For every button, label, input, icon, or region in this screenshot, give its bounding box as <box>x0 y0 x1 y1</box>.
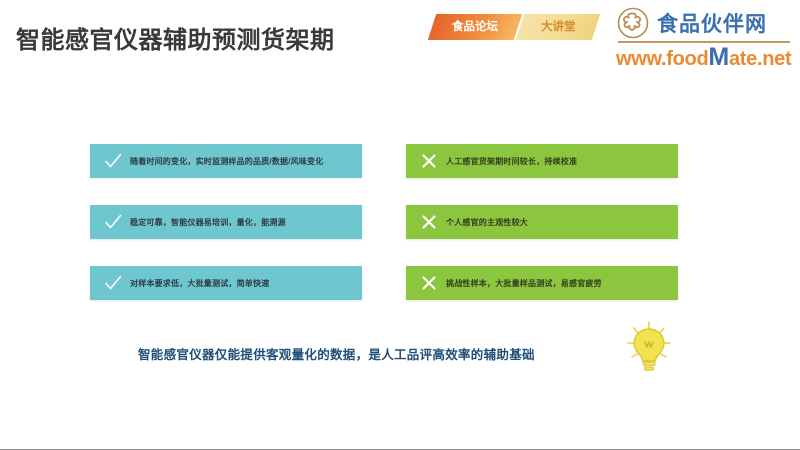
badge-food-forum-label: 食品论坛 <box>452 14 498 40</box>
flower-circle-icon <box>616 6 650 40</box>
cross-icon <box>416 274 442 292</box>
advantage-card-1-text: 随着时间的变化，实时监测样品的品质/数据/风味变化 <box>130 156 323 167</box>
advantage-card-2: 稳定可靠，智能仪器易培训，量化，能溯源 <box>90 205 362 239</box>
check-icon <box>100 273 126 293</box>
cross-icon <box>416 213 442 231</box>
lightbulb-icon <box>618 318 680 376</box>
cross-icon <box>416 152 442 170</box>
logo-url-suffix: ate.net <box>729 48 791 70</box>
check-icon <box>100 151 126 171</box>
badge-lecture-hall-label: 大讲堂 <box>541 14 576 40</box>
logo-top-row: 食品伙伴网 <box>616 6 767 40</box>
logo-chinese-name: 食品伙伴网 <box>657 8 767 38</box>
check-icon <box>100 212 126 232</box>
advantage-card-1: 随着时间的变化，实时监测样品的品质/数据/风味变化 <box>90 144 362 178</box>
logo-url-prefix: www.food <box>616 48 708 70</box>
presentation-slide: 智能感官仪器辅助预测货架期 食品论坛 大讲堂 食品伙伴网 <box>0 0 800 450</box>
comparison-grid: 随着时间的变化，实时监测样品的品质/数据/风味变化 稳定可靠，智能仪器易培训，量… <box>90 144 710 304</box>
slide-header: 智能感官仪器辅助预测货架期 食品论坛 大讲堂 食品伙伴网 <box>0 0 800 78</box>
page-title: 智能感官仪器辅助预测货架期 <box>16 20 335 55</box>
advantage-card-2-text: 稳定可靠，智能仪器易培训，量化，能溯源 <box>130 217 286 228</box>
site-logo[interactable]: 食品伙伴网 www.foodMate.net <box>616 6 794 68</box>
logo-url-m: M <box>708 43 729 71</box>
limitation-card-3: 挑战性样本，大批量样品测试，易感官疲劳 <box>406 266 678 300</box>
logo-url: www.foodMate.net <box>616 43 791 72</box>
advantage-card-3: 对样本要求低，大批量测试，简单快速 <box>90 266 362 300</box>
badge-lecture-hall: 大讲堂 <box>516 14 600 40</box>
advantage-card-3-text: 对样本要求低，大批量测试，简单快速 <box>130 278 269 289</box>
limitation-card-1-text: 人工感官货架期时间较长，持续校准 <box>446 156 577 167</box>
limitation-card-2-text: 个人感官的主观性较大 <box>446 217 528 228</box>
limitation-card-1: 人工感官货架期时间较长，持续校准 <box>406 144 678 178</box>
badge-food-forum: 食品论坛 <box>428 14 522 40</box>
conclusion-text: 智能感官仪器仅能提供客观量化的数据，是人工品评高效率的辅助基础 <box>138 344 535 363</box>
limitation-card-2: 个人感官的主观性较大 <box>406 205 678 239</box>
limitation-card-3-text: 挑战性样本，大批量样品测试，易感官疲劳 <box>446 278 602 289</box>
